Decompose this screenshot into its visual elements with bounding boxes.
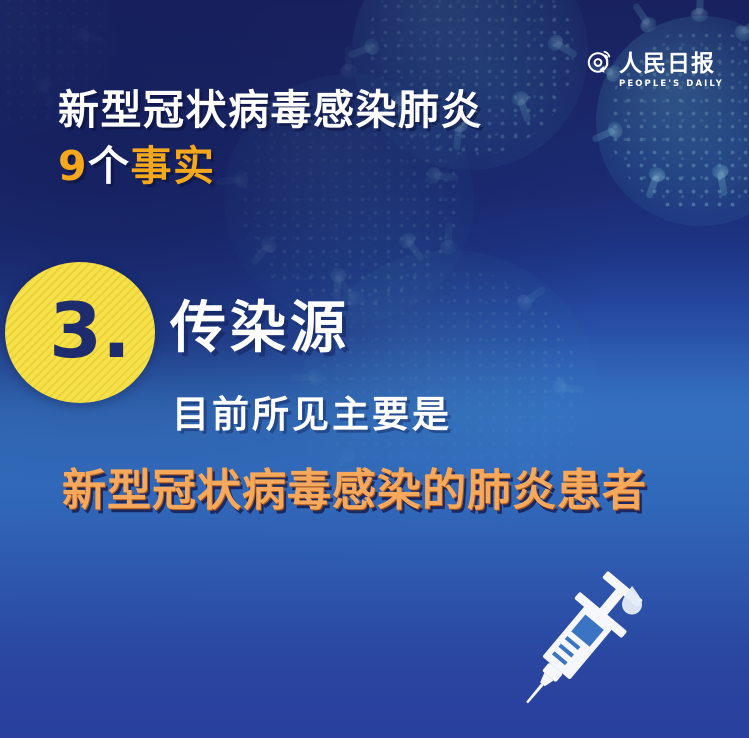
headline-block: 新型冠状病毒感染肺炎 9个事实 — [58, 86, 678, 190]
headline-line-1: 新型冠状病毒感染肺炎 — [58, 86, 678, 134]
headline-count-number: 9 — [58, 142, 88, 190]
syringe-icon — [508, 556, 658, 716]
syringe-illustration — [508, 556, 658, 716]
headline-line-2: 9个事实 — [58, 142, 678, 190]
fact-emphasis: 新型冠状病毒感染的肺炎患者 — [62, 465, 647, 517]
headline-count-word: 事实 — [131, 142, 216, 190]
logo-name-cn: 人民日报 — [619, 52, 715, 76]
at-sign-with-soundwaves-icon — [586, 48, 614, 76]
poster-canvas: 人民日报 PEOPLE'S DAILY 新型冠状病毒感染肺炎 9个事实 3. 传… — [0, 0, 749, 738]
fact-title: 传染源 — [170, 298, 350, 360]
fact-number-label: 3. — [49, 293, 131, 369]
fact-number-badge: 3. — [5, 262, 155, 403]
headline-count-unit: 个 — [88, 142, 131, 190]
fact-subtitle: 目前所见主要是 — [172, 393, 452, 437]
